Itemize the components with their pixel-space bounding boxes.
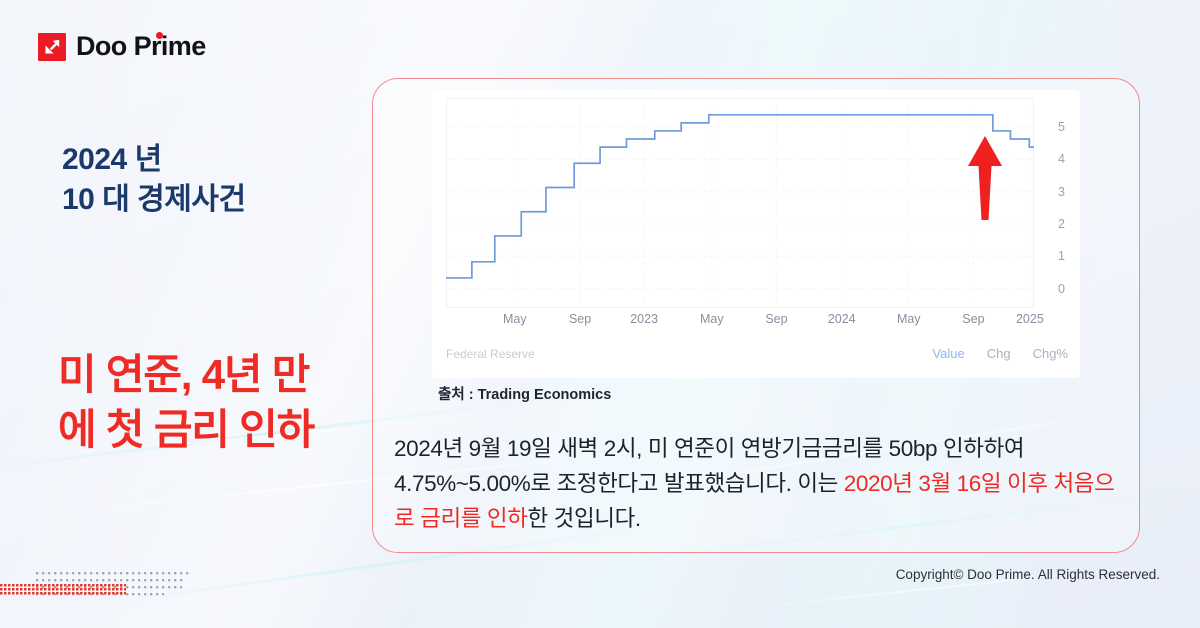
- chart-panel: MaySep2023MaySep2024MaySep2025 012345 Fe…: [432, 90, 1080, 378]
- chart-x-tick-label: May: [503, 312, 527, 326]
- chart-x-tick-label: 2024: [828, 312, 856, 326]
- chart-plot-border: [447, 99, 1034, 308]
- deco-dot-row: [36, 572, 192, 577]
- brand-name: Doo Prime: [76, 31, 206, 62]
- chart-y-tick-label: 1: [1058, 249, 1065, 263]
- chart-vertical-gridlines: [515, 98, 1030, 308]
- doo-prime-logo-mark-icon: [38, 33, 66, 61]
- chart-x-tick-label: Sep: [962, 312, 984, 326]
- chart-source-label: Federal Reserve: [446, 347, 535, 361]
- chart-x-tick-label: 2023: [630, 312, 658, 326]
- decorative-dot-matrix: [0, 560, 200, 600]
- chart-x-tick-label: May: [700, 312, 724, 326]
- chart-y-tick-label: 0: [1058, 282, 1065, 296]
- chart-caption: 출처 : Trading Economics: [438, 383, 611, 404]
- chart-x-axis: MaySep2023MaySep2024MaySep2025: [446, 312, 1068, 330]
- chart-legend-tabs: Value Chg Chg%: [932, 346, 1068, 361]
- chart-x-tick-label: Sep: [765, 312, 787, 326]
- copyright-notice: Copyright© Doo Prime. All Rights Reserve…: [896, 567, 1160, 582]
- chart-footer: Federal Reserve Value Chg Chg%: [446, 346, 1068, 361]
- chart-x-tick-label: May: [897, 312, 921, 326]
- chart-y-tick-label: 4: [1058, 152, 1065, 166]
- chart-plot-area: [446, 98, 1034, 308]
- chart-y-tick-label: 2: [1058, 217, 1065, 231]
- chart-series-line: [446, 115, 1034, 278]
- chart-y-axis: 012345: [1040, 98, 1076, 308]
- body-paragraph: 2024년 9월 19일 새벽 2시, 미 연준이 연방기금금리를 50bp 인…: [394, 432, 1118, 537]
- logo-accent-dot-icon: [156, 32, 163, 39]
- page-title: 2024 년 10 대 경제사건: [62, 140, 246, 220]
- chart-x-tick-label: 2025: [1016, 312, 1044, 326]
- chart-y-tick-label: 3: [1058, 185, 1065, 199]
- chart-horizontal-gridlines: [446, 127, 1034, 289]
- deco-red-bar: [0, 584, 126, 596]
- headline: 미 연준, 4년 만 에 첫 금리 인하: [58, 348, 368, 457]
- brand-name-text: Doo Prime: [76, 31, 206, 61]
- body-part-2: 한 것입니다.: [528, 506, 641, 531]
- red-up-arrow-icon: [962, 136, 1008, 220]
- chart-tab-value[interactable]: Value: [932, 346, 964, 361]
- brand-logo[interactable]: Doo Prime: [38, 31, 206, 62]
- poster-canvas: Doo Prime 2024 년 10 대 경제사건 미 연준, 4년 만 에 …: [0, 0, 1200, 628]
- chart-x-tick-label: Sep: [569, 312, 591, 326]
- chart-y-tick-label: 5: [1058, 120, 1065, 134]
- chart-tab-chg[interactable]: Chg: [987, 346, 1011, 361]
- chart-svg: [446, 98, 1034, 308]
- chart-tab-chgpct[interactable]: Chg%: [1033, 346, 1068, 361]
